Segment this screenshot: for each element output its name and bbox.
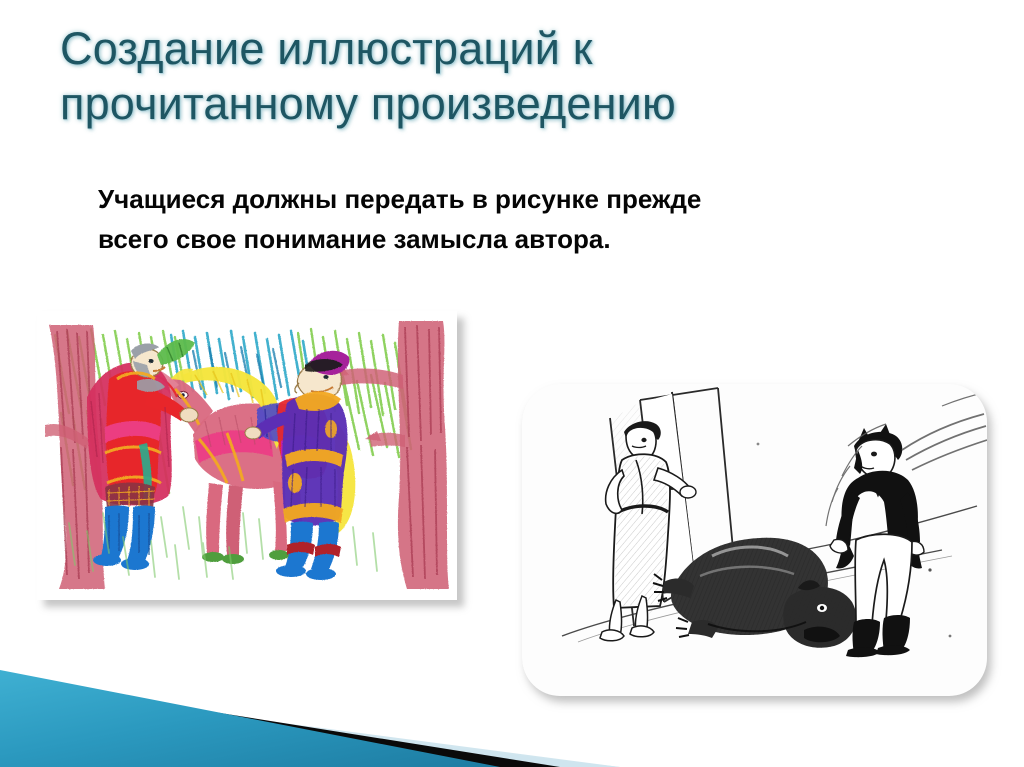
band-teal: [0, 670, 500, 767]
presentation-slide: Создание иллюстраций к прочитанному прои…: [0, 0, 1024, 767]
illustration-right-ink-drawing: [522, 384, 987, 696]
band-black: [0, 678, 560, 767]
crayon-drawing-svg: [43, 317, 451, 594]
illustration-left-crayon-drawing: [37, 311, 457, 600]
slide-title: Создание иллюстраций к прочитанному прои…: [60, 22, 920, 132]
band-pale-blue: [0, 694, 620, 767]
slide-body-text: Учащиеся должны передать в рисунке прежд…: [98, 180, 858, 259]
ink-drawing-svg: [522, 384, 987, 696]
